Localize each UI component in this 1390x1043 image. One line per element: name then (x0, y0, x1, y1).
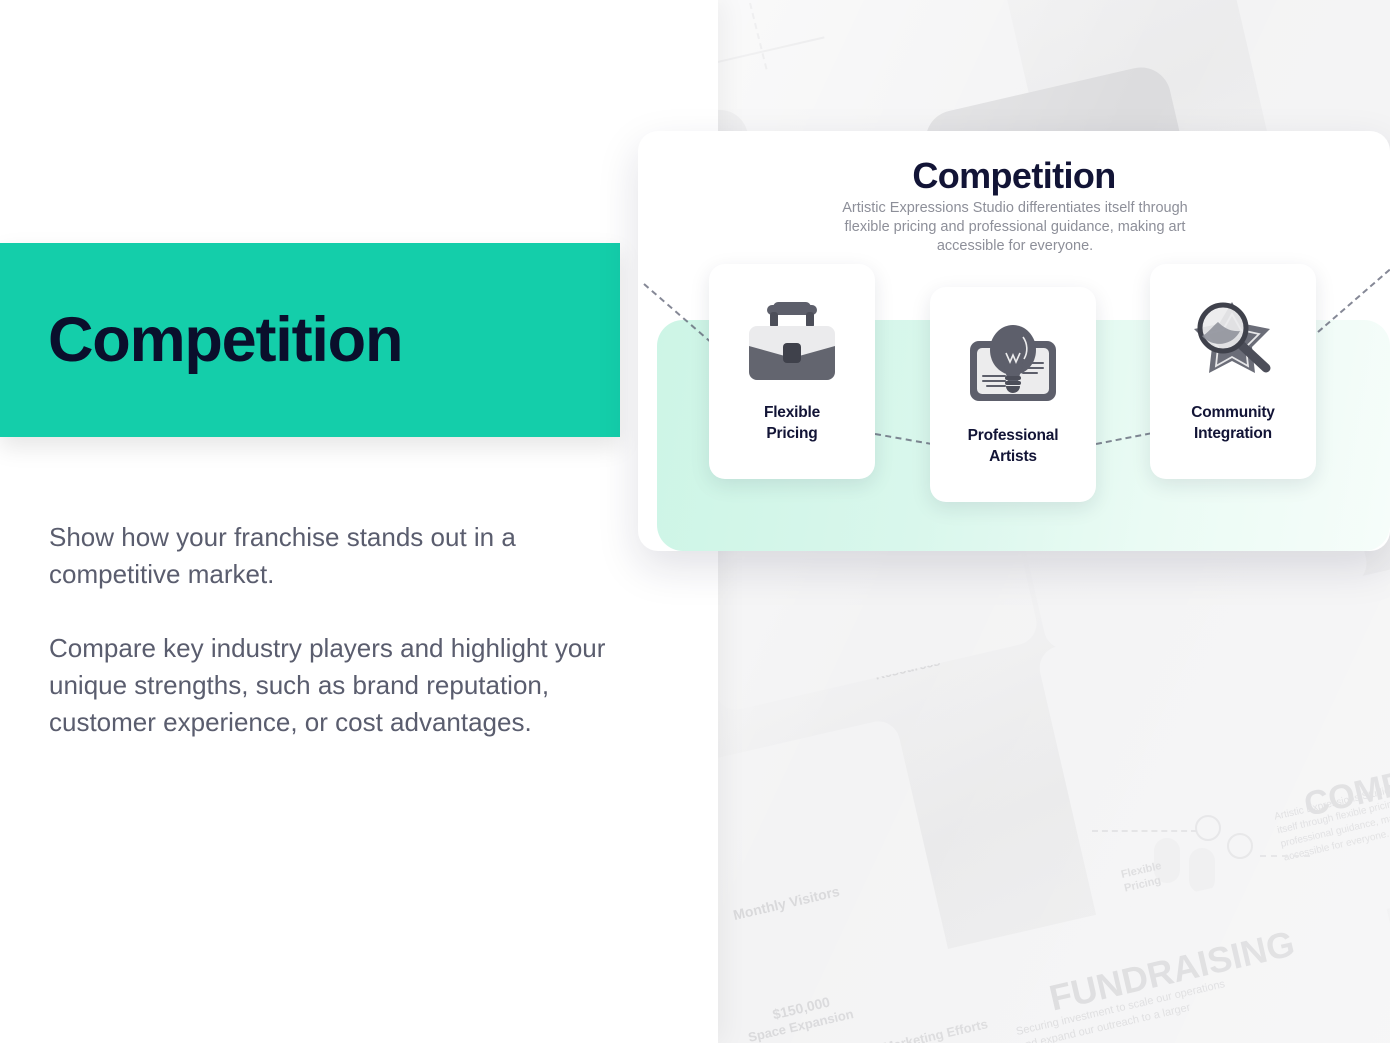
ghost-label: Professional Artists (1307, 871, 1390, 916)
magnifier-star-icon (1180, 288, 1286, 396)
ghost-card-fundraising (867, 851, 1390, 1043)
ghost-paragraph: Artistic Expressions Studio differentiat… (1273, 770, 1390, 865)
feature-card-label: Community Integration (1191, 402, 1274, 444)
feature-card-label-line2: Pricing (766, 425, 817, 442)
ghost-label: Monthly Visitors (732, 883, 841, 923)
ghost-paragraph: Securing investment to scale our operati… (1015, 976, 1239, 1043)
feature-card-label-line2: Integration (1194, 425, 1272, 442)
feature-card-flexible-pricing[interactable]: Flexible Pricing (709, 264, 875, 479)
slide-preview-card[interactable]: Competition Artistic Expressions Studio … (638, 131, 1390, 551)
ghost-dash (737, 0, 768, 69)
feature-card-label-line1: Community (1191, 404, 1274, 421)
description-paragraph-2: Compare key industry players and highlig… (49, 630, 619, 741)
description-paragraph-1: Show how your franchise stands out in a … (49, 519, 619, 593)
feature-card-professional-artists[interactable]: Professional Artists (930, 287, 1096, 502)
feature-card-community-integration[interactable]: Community Integration (1150, 264, 1316, 479)
ghost-coin (1227, 833, 1253, 859)
ghost-heading: COMPETITION (1301, 734, 1390, 825)
ghost-card-metrics (717, 717, 969, 1043)
ghost-bar (1154, 838, 1180, 883)
lightbulb-certificate-icon (960, 311, 1066, 419)
feature-card-label: Flexible Pricing (764, 402, 820, 444)
ghost-label: Flexible Pricing (1120, 852, 1195, 895)
ghost-line (717, 36, 825, 85)
slide-subtitle: Artistic Expressions Studio differentiat… (818, 199, 1212, 256)
slide-title: Competition (638, 155, 1390, 197)
ghost-bar (1189, 848, 1215, 893)
slide-preview-stage: Commissioned Art Sales Drop-In Fees Sess… (0, 0, 1390, 1043)
ghost-label: Space Expansion (747, 1006, 855, 1043)
feature-card-label-line1: Professional (968, 427, 1059, 444)
briefcase-icon (739, 288, 845, 396)
feature-card-label-line2: Artists (989, 448, 1037, 465)
description-block: Show how your franchise stands out in a … (49, 519, 619, 741)
ghost-dash (1092, 830, 1197, 832)
feature-card-label: Professional Artists (968, 425, 1059, 467)
ghost-coin (1195, 815, 1221, 841)
ghost-heading: FUNDRAISING (1045, 922, 1298, 1019)
ghost-value: $150,000 (771, 994, 832, 1023)
ghost-label: Limited Resources (869, 630, 964, 683)
ghost-label: Marketing Efforts (882, 1016, 990, 1043)
section-banner: Competition (0, 243, 620, 437)
page-title: Competition (48, 304, 402, 376)
feature-card-label-line1: Flexible (764, 404, 820, 421)
ghost-card-competition (1035, 557, 1390, 973)
ghost-dash (1260, 855, 1310, 857)
